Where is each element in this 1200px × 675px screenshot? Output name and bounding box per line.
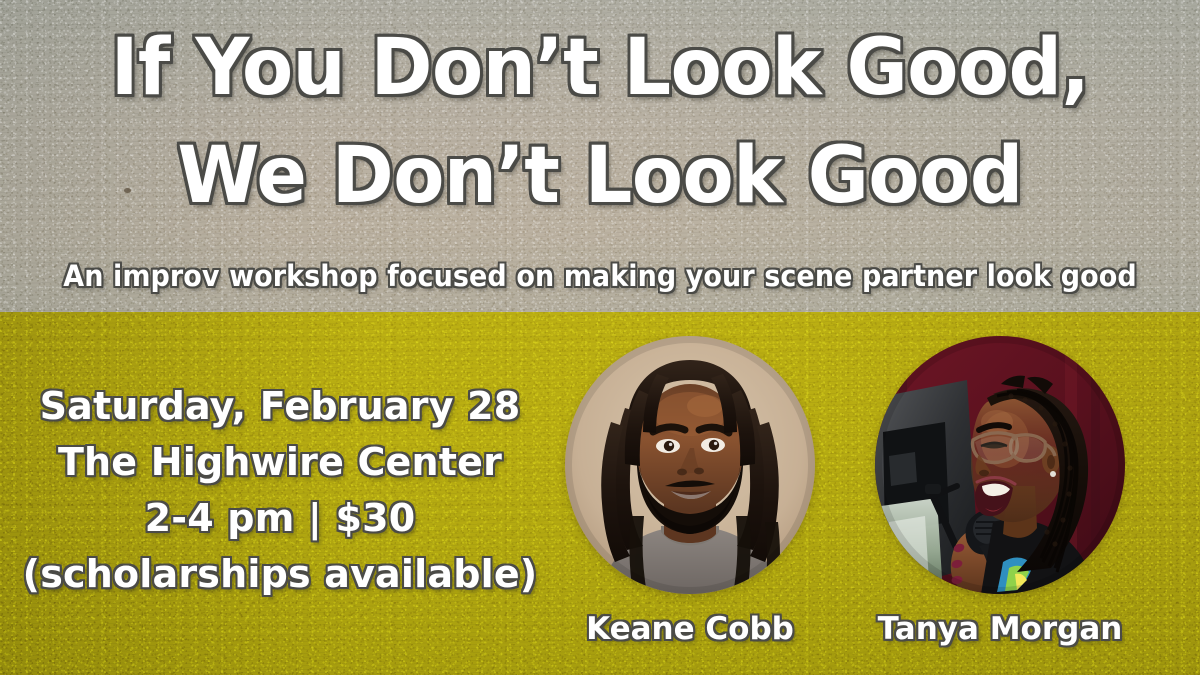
poster-headline: If You Don’t Look Good, We Don’t Look Go…: [0, 14, 1200, 230]
presenter-name-tanya-morgan: Tanya Morgan: [875, 610, 1125, 648]
headline-line-2: We Don’t Look Good: [27, 122, 1173, 230]
event-time-and-price: 2-4 pm | $30: [0, 490, 560, 546]
event-details: Saturday, February 28 The Highwire Cente…: [0, 378, 560, 602]
presenter-name-keane-cobb: Keane Cobb: [565, 610, 815, 648]
presenter-tanya-morgan: Tanya Morgan: [875, 336, 1125, 648]
presenter-keane-cobb: Keane Cobb: [565, 336, 815, 648]
presenter-photo-tanya-morgan: [875, 336, 1125, 594]
event-venue: The Highwire Center: [0, 434, 560, 490]
event-date: Saturday, February 28: [0, 378, 560, 434]
poster-subtitle: An improv workshop focused on making you…: [42, 256, 1158, 296]
event-poster: If You Don’t Look Good, We Don’t Look Go…: [0, 0, 1200, 675]
presenter-photo-keane-cobb: [565, 336, 815, 594]
event-scholarship-note: (scholarships available): [0, 546, 560, 602]
headline-line-1: If You Don’t Look Good,: [27, 14, 1173, 122]
presenter-list: Keane Cobb: [565, 336, 1165, 652]
